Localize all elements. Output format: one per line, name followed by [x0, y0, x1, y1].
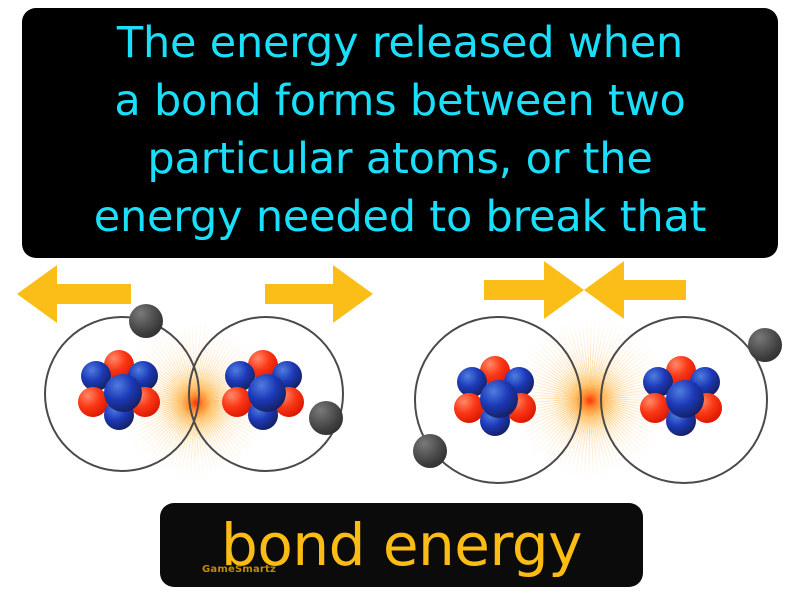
neutron-center	[248, 374, 286, 412]
arrow-head-left	[17, 265, 57, 323]
atom-group-bond-breaking	[0, 258, 400, 500]
atom-group-bond-forming	[400, 258, 800, 500]
nucleus-left	[78, 350, 166, 438]
electron-lower	[413, 434, 447, 468]
nucleus-right	[222, 350, 310, 438]
nucleus-left	[454, 356, 542, 444]
electron-upper	[129, 304, 163, 338]
term-panel: bond energy GameSmartz	[160, 503, 643, 587]
electron-lower	[309, 401, 343, 435]
neutron-center	[104, 374, 142, 412]
definition-panel: The energy released when a bond forms be…	[22, 8, 778, 258]
arrow-shaft	[57, 284, 131, 304]
arrow-head-right	[333, 265, 373, 323]
nucleus-right	[640, 356, 728, 444]
atom-illustration	[0, 258, 800, 500]
arrow-shaft	[265, 284, 335, 304]
definition-text: The energy released when a bond forms be…	[22, 14, 778, 246]
definition-card: The energy released when a bond forms be…	[0, 0, 800, 600]
arrow-shaft	[484, 280, 546, 300]
watermark-label: GameSmartz	[202, 564, 276, 575]
neutron-center	[480, 380, 518, 418]
neutron-center	[666, 380, 704, 418]
electron-upper	[748, 328, 782, 362]
arrow-shaft	[624, 280, 686, 300]
